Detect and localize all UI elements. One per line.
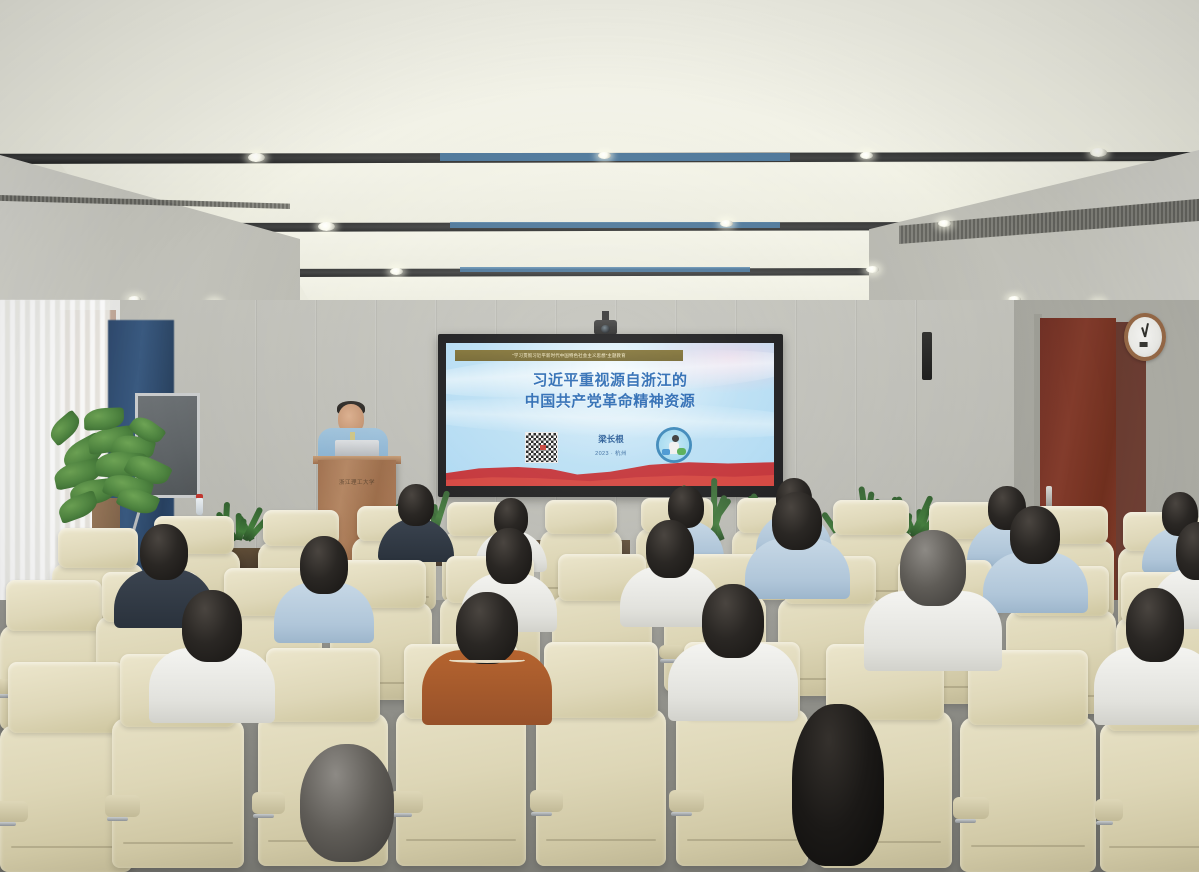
chair-headrest [544, 642, 658, 718]
emblem-green-shape [677, 448, 686, 455]
ceiling-band-blue-3 [460, 267, 750, 272]
chair-headrest [6, 580, 101, 631]
clock-date-window [1139, 342, 1148, 347]
slide-speaker-name: 梁长根 [566, 433, 656, 445]
conference-chair[interactable] [112, 718, 244, 868]
attendee-head [702, 584, 764, 658]
chair-armrest-chrome [1096, 821, 1114, 825]
slide-emblem-icon [656, 427, 692, 463]
ceiling [0, 0, 1199, 330]
attendee-head [456, 592, 518, 664]
chair-armrest-chrome [531, 812, 552, 816]
chair-armrest-chrome [0, 822, 16, 826]
slide-banner: “学习贯彻习近平新时代中国特色社会主义思想”主题教育 [455, 350, 683, 361]
chair-armrest [669, 790, 703, 812]
chair-headrest [545, 500, 617, 534]
downlight-8 [390, 268, 403, 275]
conference-chair[interactable] [960, 717, 1096, 872]
chair-armrest-chrome [253, 814, 274, 818]
clock-minute-hand [1144, 323, 1149, 337]
attendee-head [140, 524, 188, 580]
wall-clock [1124, 313, 1166, 361]
downlight-5 [318, 222, 335, 231]
chair-armrest [0, 801, 28, 822]
attendee-head [900, 530, 966, 606]
attendee-head [300, 744, 394, 862]
presentation-screen: “学习贯彻习近平新时代中国特色社会主义思想”主题教育 习近平重视源自浙江的 中国… [446, 343, 774, 486]
qr-center-mark [540, 445, 547, 450]
chair-armrest [252, 792, 286, 814]
chair-headrest [266, 648, 380, 722]
chair-armrest [1095, 799, 1124, 820]
conference-chair[interactable] [536, 709, 666, 866]
slide-title-line-2: 中国共产党革命精神资源 [446, 392, 774, 413]
conference-chair[interactable] [396, 711, 526, 866]
chair-armrest [390, 791, 424, 813]
slide-title-line-1: 习近平重视源自浙江的 [446, 371, 774, 392]
conference-room-photo: “学习贯彻习近平新时代中国特色社会主义思想”主题教育 习近平重视源自浙江的 中国… [0, 0, 1199, 872]
downlight-7 [938, 220, 951, 227]
attendee-head [646, 520, 694, 578]
downlight-3 [860, 152, 873, 159]
bottle-cap-1 [196, 494, 203, 498]
downlight-4 [1090, 148, 1107, 157]
ceiling-band-blue-1 [440, 153, 790, 161]
attendee-head [772, 492, 822, 550]
slide-title: 习近平重视源自浙江的 中国共产党革命精神资源 [446, 371, 774, 413]
chair-armrest-chrome [107, 817, 128, 821]
conference-chair[interactable] [676, 709, 808, 866]
chair-armrest-chrome [955, 819, 977, 823]
door-handle[interactable] [1046, 486, 1052, 508]
chair-armrest [953, 797, 988, 819]
slide-date-location: 2023 · 杭州 [566, 449, 656, 457]
conference-chair[interactable] [1100, 722, 1199, 872]
chair-headrest [8, 662, 124, 733]
attendee-head [792, 704, 884, 866]
chair-armrest-chrome [671, 812, 692, 816]
attendee-head [486, 528, 532, 584]
wall-speaker [922, 332, 932, 380]
camera-lens-icon [601, 325, 610, 333]
chair-headrest [833, 500, 909, 535]
chair-headrest [58, 528, 139, 568]
downlight-9 [866, 266, 879, 273]
emblem-blue-shape [662, 449, 669, 454]
podium-inscription: 浙江理工大学 [318, 478, 396, 486]
emblem-figure-head [672, 435, 679, 442]
qr-code-icon [525, 432, 558, 463]
attendee-head [1010, 506, 1060, 564]
downlight-1 [248, 153, 265, 162]
attendee-head [300, 536, 348, 594]
chair-armrest [105, 795, 139, 816]
chair-armrest [530, 790, 564, 812]
ceiling-outer-slab [0, 0, 1199, 158]
attendee-head [1126, 588, 1184, 662]
attendee-head [182, 590, 242, 662]
water-bottle-1 [196, 498, 203, 515]
downlight-2 [598, 152, 611, 159]
downlight-6 [720, 220, 733, 227]
attendee-head [398, 484, 434, 526]
